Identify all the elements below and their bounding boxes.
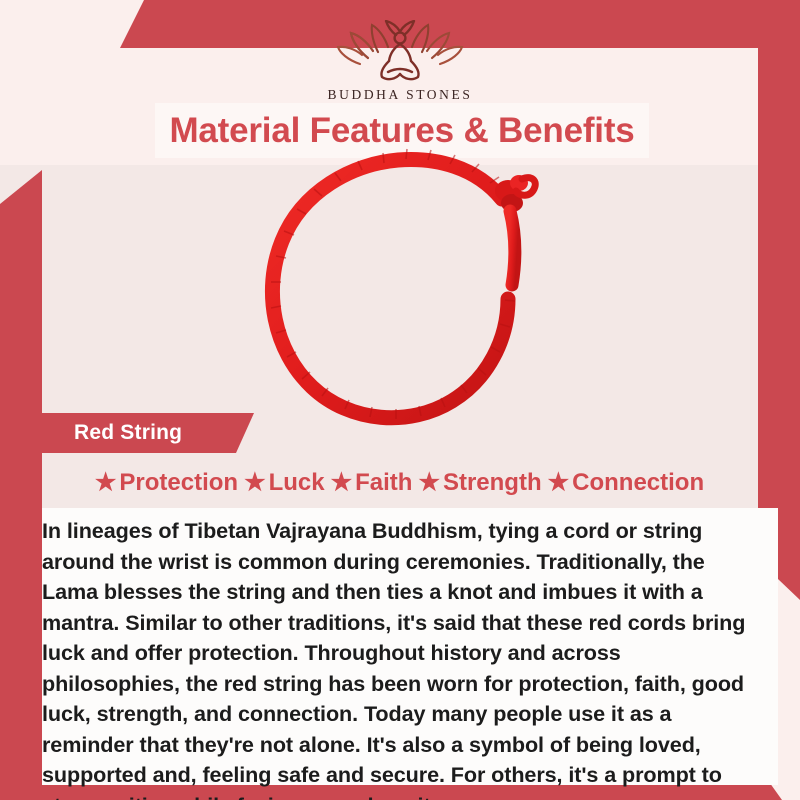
description-panel: In lineages of Tibetan Vajrayana Buddhis… xyxy=(42,508,778,785)
benefit-item: ★ Protection xyxy=(95,469,238,497)
infographic-page: BUDDHA STONES Material Features & Benefi… xyxy=(0,0,800,800)
benefit-item: ★ Connection xyxy=(548,469,705,497)
benefit-item: ★ Strength xyxy=(418,469,541,497)
benefit-label: Strength xyxy=(443,469,542,497)
red-braided-string-bracelet-photo xyxy=(240,139,570,444)
description-text: In lineages of Tibetan Vajrayana Buddhis… xyxy=(42,516,764,800)
benefit-label: Luck xyxy=(269,469,325,497)
product-label-banner: Red String xyxy=(42,413,254,453)
star-icon: ★ xyxy=(95,471,117,495)
lotus-meditation-figure-icon xyxy=(330,20,470,84)
star-icon: ★ xyxy=(418,471,440,495)
brand-logo: BUDDHA STONES xyxy=(0,20,800,103)
star-icon: ★ xyxy=(331,471,353,495)
benefit-label: Protection xyxy=(119,469,238,497)
benefit-item: ★ Luck xyxy=(244,469,325,497)
product-image xyxy=(60,166,750,416)
star-icon: ★ xyxy=(244,471,266,495)
benefits-list: ★ Protection ★ Luck ★ Faith ★ Strength ★… xyxy=(42,462,757,504)
star-icon: ★ xyxy=(548,471,570,495)
product-label: Red String xyxy=(74,421,182,445)
benefit-label: Connection xyxy=(572,469,704,497)
decorative-bar-left xyxy=(0,170,42,800)
benefit-item: ★ Faith xyxy=(331,469,413,497)
benefit-label: Faith xyxy=(355,469,412,497)
brand-name: BUDDHA STONES xyxy=(328,87,473,103)
